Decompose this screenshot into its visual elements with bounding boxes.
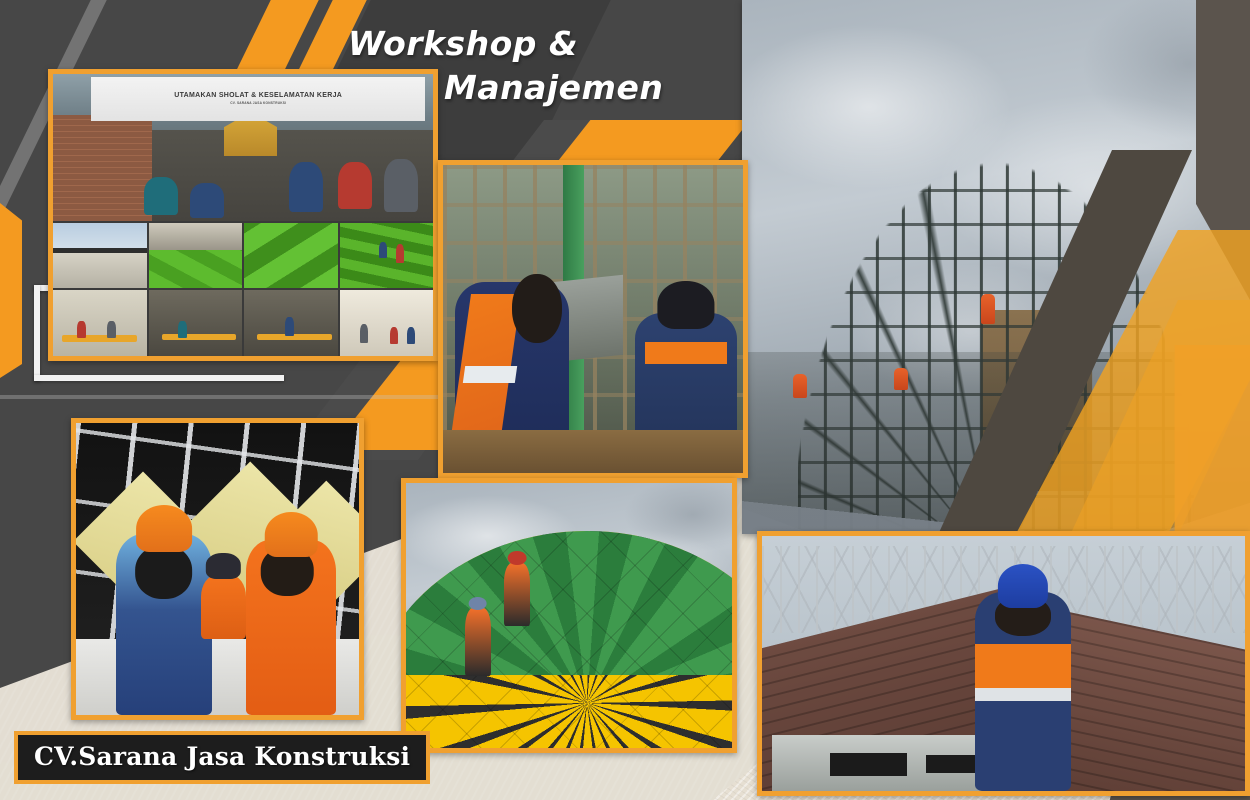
decor-frame-line-3 (34, 375, 284, 381)
worker-climbing-upper (504, 563, 530, 627)
orange-hard-hat (136, 505, 192, 552)
worker-orange-uniform (246, 540, 337, 715)
blue-hard-hat (998, 564, 1048, 608)
worker-figure (384, 159, 418, 212)
worker-figure (338, 162, 372, 209)
poster-canvas: UTAMAKAN SHOLAT & KESELAMATAN KERJA CV. … (0, 0, 1250, 800)
worker-cap (657, 281, 714, 329)
worker-figure (289, 162, 323, 212)
workshop-collage-photo: UTAMAKAN SHOLAT & KESELAMATAN KERJA CV. … (48, 69, 438, 361)
safety-banner-line2: CV. SARANA JASA KONSTRUKSI (230, 101, 286, 105)
collage-cell (244, 290, 338, 356)
steel-erection-photo (438, 160, 748, 478)
collage-cell (244, 223, 338, 289)
collage-row-1 (53, 223, 433, 289)
worker-figure (894, 368, 908, 390)
worker-climbing-lower (465, 608, 491, 677)
page-title-line2: Manajemen (348, 66, 663, 110)
window-opening (830, 753, 907, 776)
worker-head (512, 274, 562, 343)
orange-hard-hat (265, 512, 318, 558)
tile-grid-lines (406, 531, 732, 748)
supervisor-figure (975, 592, 1072, 791)
worker-middle (201, 575, 246, 639)
worker-figure (144, 177, 178, 215)
worker-figure (981, 294, 995, 324)
orange-vest (975, 644, 1072, 688)
page-title-line1: Workshop & (348, 24, 578, 63)
collage-cell (53, 223, 147, 289)
collage-cell (149, 223, 243, 289)
worker-figure (793, 374, 807, 398)
tiled-dome-photo (401, 478, 737, 753)
company-name-label: CV.Sarana Jasa Konstruksi (34, 742, 410, 771)
decor-frame-line-2 (34, 285, 40, 381)
collage-cell (340, 223, 434, 289)
timber-planks (443, 430, 743, 473)
worker-figure (190, 183, 224, 218)
collage-row-2 (53, 290, 433, 356)
collage-cell (53, 290, 147, 356)
reflective-stripe (975, 688, 1072, 702)
tiled-dome-surface (406, 531, 732, 748)
page-title: Workshop & Manajemen (348, 22, 663, 109)
worker-blue-uniform (116, 534, 212, 715)
safety-banner-line1: UTAMAKAN SHOLAT & KESELAMATAN KERJA (174, 92, 342, 99)
decor-left-orange-bar (0, 203, 22, 378)
collage-cell (149, 290, 243, 356)
brick-wall (53, 115, 152, 221)
company-name-badge: CV.Sarana Jasa Konstruksi (14, 731, 430, 784)
collage-cell (340, 290, 434, 356)
panel-install-photo (71, 418, 364, 720)
roof-inspection-photo (757, 531, 1250, 796)
